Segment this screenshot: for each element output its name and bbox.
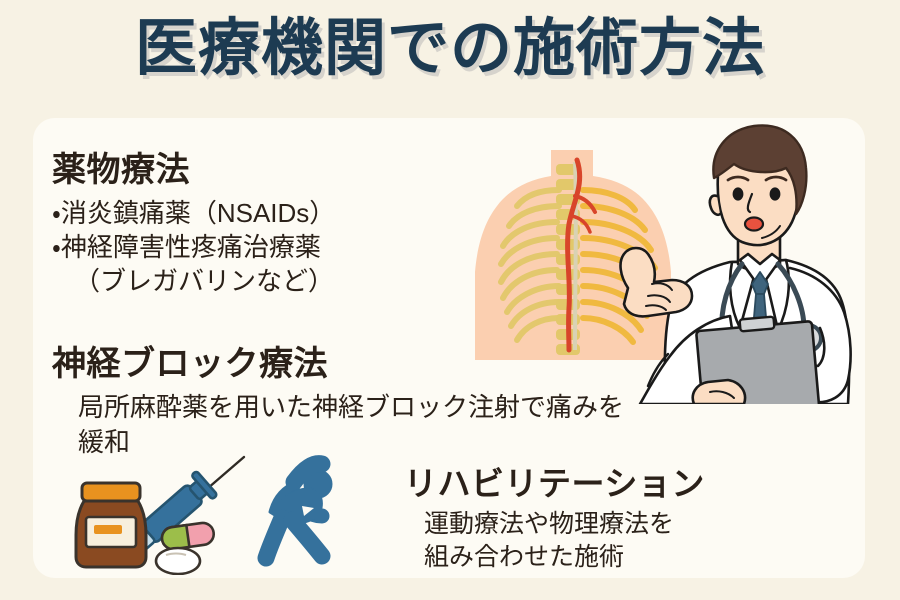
section-heading-rehabilitation: リハビリテーション xyxy=(404,457,705,505)
bullet-marker: ・ xyxy=(52,232,61,262)
list-item: ・神経障害性疼痛治療薬 xyxy=(52,231,335,265)
body-line: 局所麻酔薬を用いた神経ブロック注射で痛みを xyxy=(78,390,738,425)
section-heading-nerve-block: 神経ブロック療法 xyxy=(52,336,328,385)
list-item-continuation: （ブレガバリンなど） xyxy=(52,265,335,299)
body-line: 組み合わせた施術 xyxy=(424,541,674,574)
body-line: 運動療法や物理療法を xyxy=(424,508,674,541)
bullet-text: 神経障害性疼痛治療薬 xyxy=(61,232,321,262)
title-bar: 医療機関での施術方法 xyxy=(0,16,900,83)
body-line: 緩和 xyxy=(78,425,738,460)
medicine-bottle-syringe-illustration xyxy=(62,455,252,575)
poster-root: 医療機関での施術方法 薬物療法 ・消炎鎮痛薬（NSAIDs） ・神経障害性疼痛治… xyxy=(0,0,900,600)
list-item: ・消炎鎮痛薬（NSAIDs） xyxy=(52,197,335,231)
section-body-nerve-block: 局所麻酔薬を用いた神経ブロック注射で痛みを 緩和 xyxy=(78,390,738,461)
stretching-figure-pictogram xyxy=(252,452,376,574)
bullet-marker: ・ xyxy=(52,198,61,228)
doctor-illustration xyxy=(612,112,900,404)
section-body-rehabilitation: 運動療法や物理療法を 組み合わせた施術 xyxy=(424,508,674,575)
bullet-text: 消炎鎮痛薬（NSAIDs） xyxy=(61,198,335,228)
page-title: 医療機関での施術方法 xyxy=(135,16,765,83)
section-body-drug-therapy: ・消炎鎮痛薬（NSAIDs） ・神経障害性疼痛治療薬 （ブレガバリンなど） xyxy=(52,197,335,298)
section-heading-drug-therapy: 薬物療法 xyxy=(52,142,190,191)
